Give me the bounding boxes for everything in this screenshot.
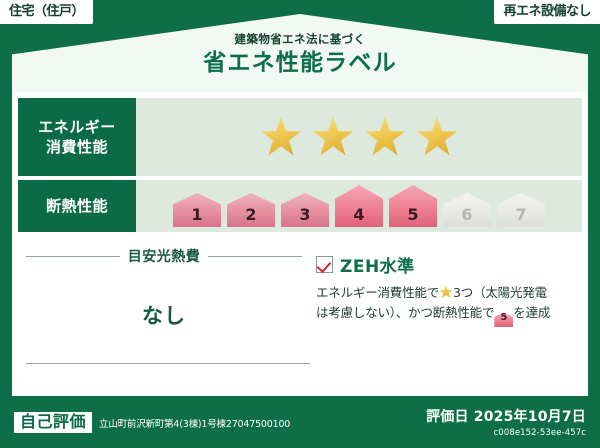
label-subtitle: 建築物省エネ法に基づく [0, 34, 600, 46]
label-card: エネルギー 消費性能 断熱性能 1234567 目安光熱費 なし [12, 92, 588, 396]
insulation-level-badge: 2 [227, 193, 275, 227]
divider-right [208, 256, 302, 257]
utility-cost-value: なし [26, 300, 302, 330]
energy-label-line2: 消費性能 [46, 137, 108, 157]
evaluation-type-chip: 自己評価 [14, 412, 92, 433]
insulation-performance-label: 断熱性能 [18, 180, 136, 232]
insulation-level-badge: 3 [281, 193, 329, 227]
energy-performance-row: エネルギー 消費性能 [18, 98, 582, 176]
energy-performance-label: エネルギー 消費性能 [18, 98, 136, 176]
zeh-desc-part1: エネルギー消費性能で [316, 285, 439, 300]
insulation-level-badge: 6 [443, 193, 491, 227]
zeh-title: ZEH水準 [340, 252, 415, 277]
evaluation-date-value: 2025年10月7日 [474, 409, 586, 425]
energy-performance-value [136, 98, 582, 176]
energy-label-line1: エネルギー [38, 117, 116, 137]
evaluation-date-label: 評価日 [426, 409, 469, 425]
star-icon [260, 116, 302, 158]
building-type-tag: 住宅（住戸） [0, 0, 93, 24]
title-block: 建築物省エネ法に基づく 省エネ性能ラベル [0, 34, 600, 76]
insulation-performance-row: 断熱性能 1234567 [18, 180, 582, 232]
zeh-desc-star-count: 3つ（太陽光発電 [453, 285, 547, 300]
property-address: 立山町前沢新町第4(3棟)1号棟27047500100 [99, 416, 290, 430]
insulation-level-badge: 7 [497, 193, 545, 227]
zeh-description: エネルギー消費性能で3つ（太陽光発電は考慮しない）、かつ断熱性能で5を達成 [316, 283, 568, 327]
star-icon [364, 116, 406, 158]
insulation-level-badges: 1234567 [173, 185, 545, 227]
star-icon [416, 116, 458, 158]
utility-cost-bottom-divider [26, 363, 310, 364]
insulation-level-badge: 5 [389, 185, 437, 227]
inline-star-icon [439, 285, 453, 299]
footer-left: 自己評価 立山町前沢新町第4(3棟)1号棟27047500100 [14, 412, 290, 433]
star-rating [260, 116, 458, 158]
insulation-performance-value: 1234567 [136, 180, 582, 232]
zeh-desc-part3: を達成 [513, 305, 550, 320]
zeh-desc-part2: は考慮しない）、かつ断熱性能で [316, 305, 494, 320]
lower-section: 目安光熱費 なし ZEH水準 エネルギー消費性能で3つ（太陽光発電は考慮しない）… [18, 236, 582, 388]
zeh-panel: ZEH水準 エネルギー消費性能で3つ（太陽光発電は考慮しない）、かつ断熱性能で5… [310, 236, 582, 388]
page-title: 省エネ性能ラベル [0, 51, 600, 76]
renewable-energy-tag: 再エネ設備なし [494, 0, 600, 24]
divider-left [26, 256, 120, 257]
evaluation-date: 評価日 2025年10月7日 [426, 406, 586, 426]
insulation-level-badge: 4 [335, 185, 383, 227]
star-icon [312, 116, 354, 158]
utility-cost-panel: 目安光熱費 なし [18, 236, 310, 388]
inline-level-badge-icon: 5 [494, 312, 513, 327]
utility-cost-header: 目安光熱費 [26, 246, 302, 266]
energy-performance-label: 住宅（住戸） 再エネ設備なし 建築物省エネ法に基づく 省エネ性能ラベル エネルギ… [0, 0, 600, 448]
footer: 自己評価 立山町前沢新町第4(3棟)1号棟27047500100 評価日 202… [0, 396, 600, 448]
zeh-checkbox-checked-icon [316, 256, 333, 273]
utility-cost-title: 目安光熱費 [128, 246, 201, 266]
footer-right: 評価日 2025年10月7日 c008e152-53ee-457c [426, 406, 586, 438]
zeh-header: ZEH水準 [316, 252, 568, 277]
document-id: c008e152-53ee-457c [426, 428, 586, 438]
insulation-level-badge: 1 [173, 193, 221, 227]
